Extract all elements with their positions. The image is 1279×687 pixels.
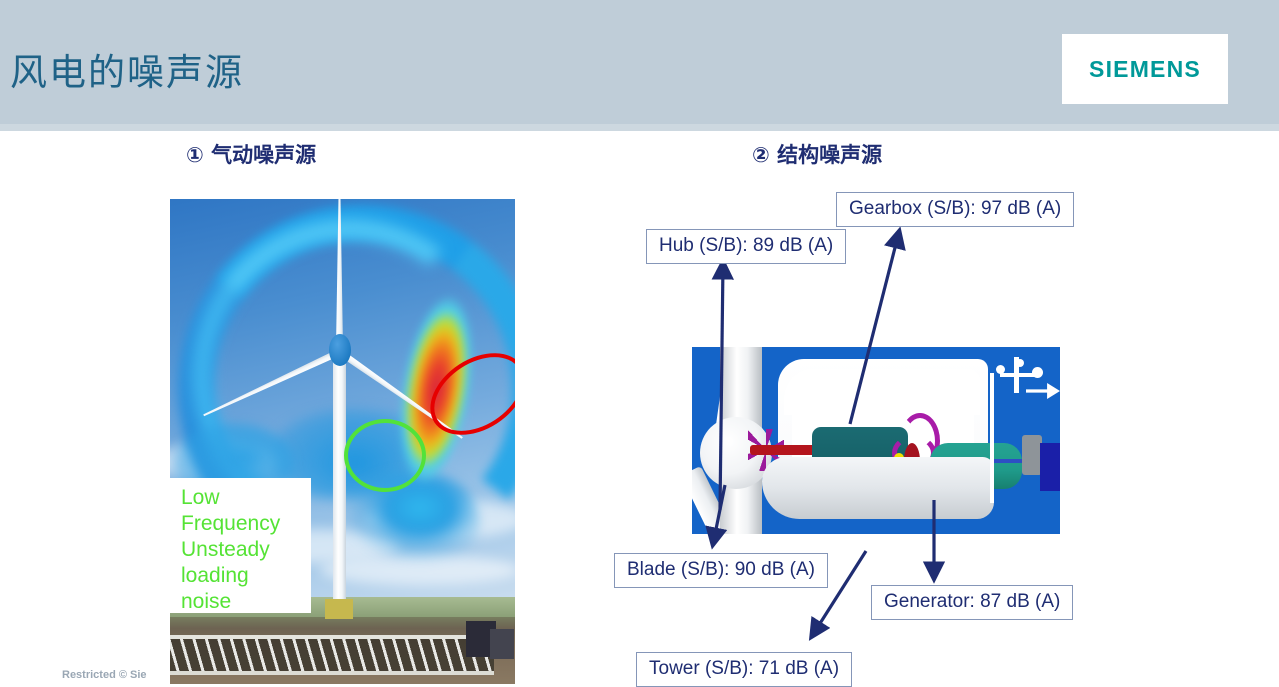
anemometer-cup-icon — [1016, 359, 1024, 367]
turbine-tower — [333, 349, 346, 615]
nacelle-rear-edge — [990, 373, 994, 503]
caption-line: Low — [181, 485, 311, 511]
section-heading-aerodynamic: ① 气动噪声源 — [186, 139, 316, 169]
label-blade: Blade (S/B): 90 dB (A) — [614, 553, 828, 588]
anemometer-cup-icon — [996, 365, 1005, 374]
nacelle-cutaway-image — [692, 347, 1060, 534]
turbine-tower-base — [325, 599, 353, 619]
caption-line: noise — [181, 589, 311, 615]
microphone-array-truss — [170, 635, 494, 675]
main-shaft — [750, 445, 816, 455]
turbine-hub — [329, 334, 351, 366]
low-frequency-noise-caption: Low Frequency Unsteady loading noise — [170, 478, 311, 613]
caption-line: loading — [181, 563, 311, 589]
green-circle-annotation — [344, 419, 426, 492]
label-hub: Hub (S/B): 89 dB (A) — [646, 229, 846, 264]
transformer-block — [1040, 443, 1060, 491]
header-underline — [0, 124, 1279, 131]
label-generator: Generator: 87 dB (A) — [871, 585, 1073, 620]
siemens-logo-text: SIEMENS — [1089, 56, 1201, 83]
nacelle-base-frame — [762, 457, 994, 519]
page-title: 风电的噪声源 — [10, 42, 244, 96]
caption-line: Frequency — [181, 511, 311, 537]
label-gearbox: Gearbox (S/B): 97 dB (A) — [836, 192, 1074, 227]
siemens-logo: SIEMENS — [1062, 34, 1228, 104]
wind-turbine-cfd-image: Low Frequency Unsteady loading noise — [170, 199, 515, 684]
caption-line: Unsteady — [181, 537, 311, 563]
label-tower: Tower (S/B): 71 dB (A) — [636, 652, 852, 687]
section-heading-structural: ② 结构噪声源 — [752, 139, 882, 169]
control-cabinet — [1022, 435, 1042, 475]
footer-restricted-note: Restricted © Sie — [62, 669, 147, 681]
field-equipment-box — [490, 629, 514, 659]
wind-vane-icon — [1026, 383, 1060, 399]
anemometer-cup-icon — [1032, 367, 1043, 378]
